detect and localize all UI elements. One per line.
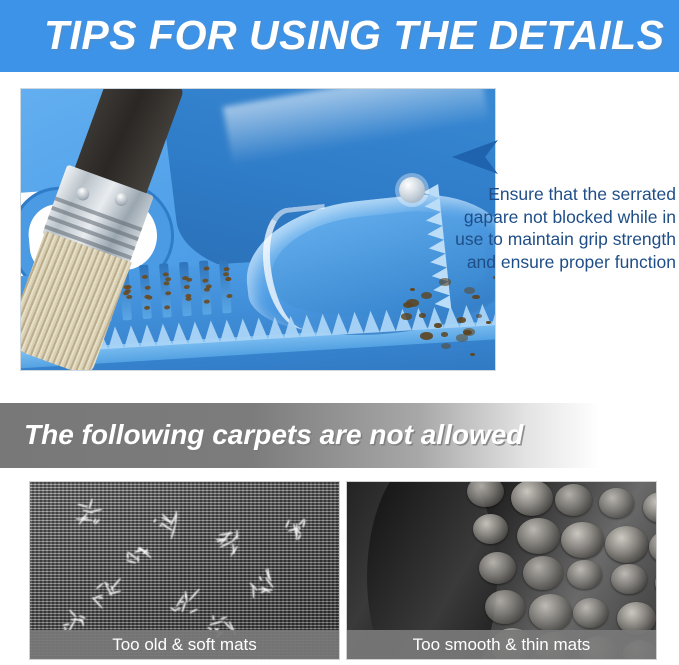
- serration-tooth: [187, 321, 204, 344]
- dirt-splotch: [495, 333, 496, 338]
- debris-speck: [184, 284, 190, 288]
- rubber-stud: [567, 560, 602, 589]
- serration-tooth: [394, 308, 411, 331]
- rubber-stud: [485, 590, 525, 624]
- serration-tooth: [267, 316, 284, 339]
- rubber-stud: [517, 518, 560, 554]
- serration-tooth: [219, 319, 236, 342]
- dirt-splotch: [476, 314, 483, 318]
- rubber-stud: [523, 556, 563, 590]
- section-banner: The following carpets are not allowed: [0, 403, 600, 468]
- callout-text: Ensure that the serrated gapare not bloc…: [438, 183, 676, 273]
- comparison-panel-old-soft-mats: Too old & soft mats: [29, 481, 340, 660]
- dirt-splotch: [470, 353, 475, 356]
- carpet-fiber: [236, 529, 238, 539]
- panel-caption: Too smooth & thin mats: [347, 630, 656, 659]
- dirt-splotch: [419, 313, 427, 318]
- rubber-stud: [605, 526, 648, 563]
- left-arrow-icon: [452, 140, 500, 174]
- serration-tooth: [346, 311, 363, 334]
- debris-speck: [203, 266, 209, 270]
- rubber-stud: [611, 564, 647, 594]
- dirt-splotch: [410, 288, 415, 291]
- dirt-splotch: [456, 334, 468, 341]
- rubber-stud: [599, 488, 634, 518]
- page-title: TIPS FOR USING THE DETAILS: [44, 9, 656, 61]
- serration-tooth: [235, 318, 252, 341]
- serration-tooth: [362, 310, 379, 333]
- serration-tooth: [171, 322, 188, 345]
- rubber-stud: [529, 594, 572, 631]
- carpet-fiber: [137, 555, 139, 562]
- dirt-splotch: [457, 317, 466, 322]
- serration-tooth: [203, 320, 220, 343]
- dirt-splotch: [434, 323, 442, 328]
- side-serration-tooth: [434, 295, 451, 311]
- rubber-stud: [555, 484, 592, 516]
- section-title: The following carpets are not allowed: [24, 416, 523, 454]
- debris-speck: [227, 294, 233, 298]
- dirt-splotch: [439, 278, 451, 285]
- rubber-stud: [561, 522, 604, 558]
- serration-tooth: [458, 304, 475, 327]
- serration-tooth: [331, 312, 348, 335]
- header-banner: TIPS FOR USING THE DETAILS: [0, 0, 679, 72]
- debris-speck: [142, 274, 148, 278]
- debris-speck: [127, 295, 133, 299]
- serration-tooth: [139, 324, 156, 347]
- dirt-splotch: [406, 299, 418, 306]
- dirt-splotch: [441, 332, 449, 337]
- rubber-stud: [479, 552, 516, 584]
- rubber-stud: [473, 514, 508, 544]
- serration-tooth: [155, 323, 172, 346]
- debris-speck: [186, 296, 192, 300]
- serration-tooth: [251, 317, 268, 340]
- serration-tooth: [315, 313, 332, 336]
- debris-speck: [164, 305, 170, 309]
- serration-tooth: [299, 314, 316, 337]
- dirt-splotch: [420, 332, 433, 340]
- tool-groove: [159, 263, 172, 317]
- dirt-splotch: [441, 343, 451, 349]
- dirt-splotch: [401, 313, 412, 319]
- hero-product-photo: [20, 88, 496, 371]
- serration-tooth: [378, 309, 395, 332]
- serration-tooth: [490, 302, 496, 325]
- serration-tooth: [123, 325, 140, 348]
- tool-groove: [139, 265, 152, 319]
- panel-caption: Too old & soft mats: [30, 630, 339, 659]
- dirt-splotch: [493, 276, 496, 278]
- tool-groove: [179, 262, 192, 316]
- serration-tooth: [283, 315, 300, 338]
- tool-rivet: [399, 177, 425, 203]
- debris-speck: [225, 277, 231, 281]
- dirt-splotch: [486, 321, 491, 324]
- comparison-panel-smooth-thin-mats: Too smooth & thin mats: [346, 481, 657, 660]
